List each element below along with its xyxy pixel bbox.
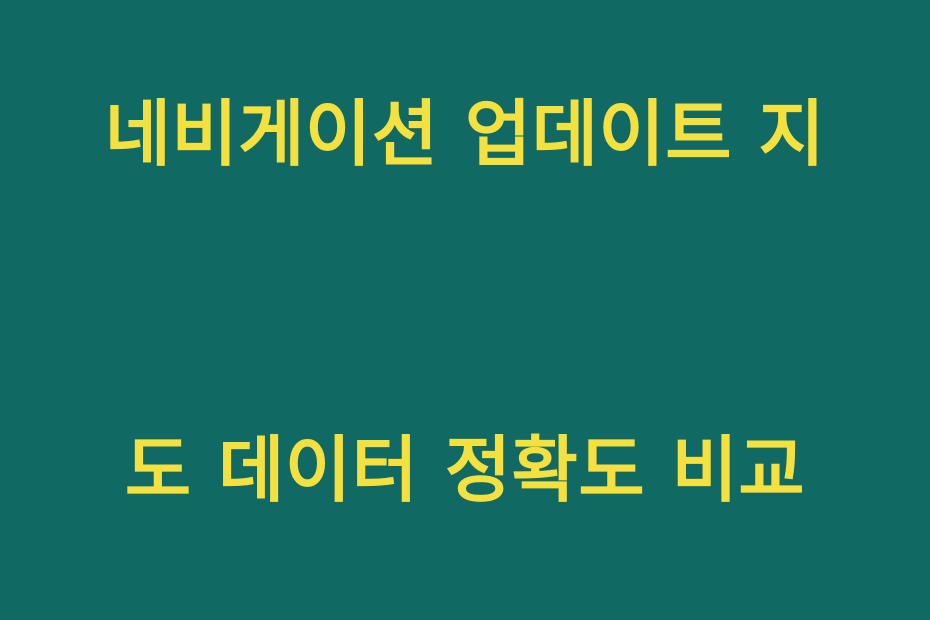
title-card: 네비게이션 업데이트 지 도 데이터 정확도 비교: [0, 0, 930, 620]
headline-text-block: 네비게이션 업데이트 지 도 데이터 정확도 비교: [70, 0, 860, 620]
headline-line-2: 도 데이터 정확도 비교: [70, 415, 860, 527]
headline-line-1: 네비게이션 업데이트 지: [70, 79, 860, 191]
